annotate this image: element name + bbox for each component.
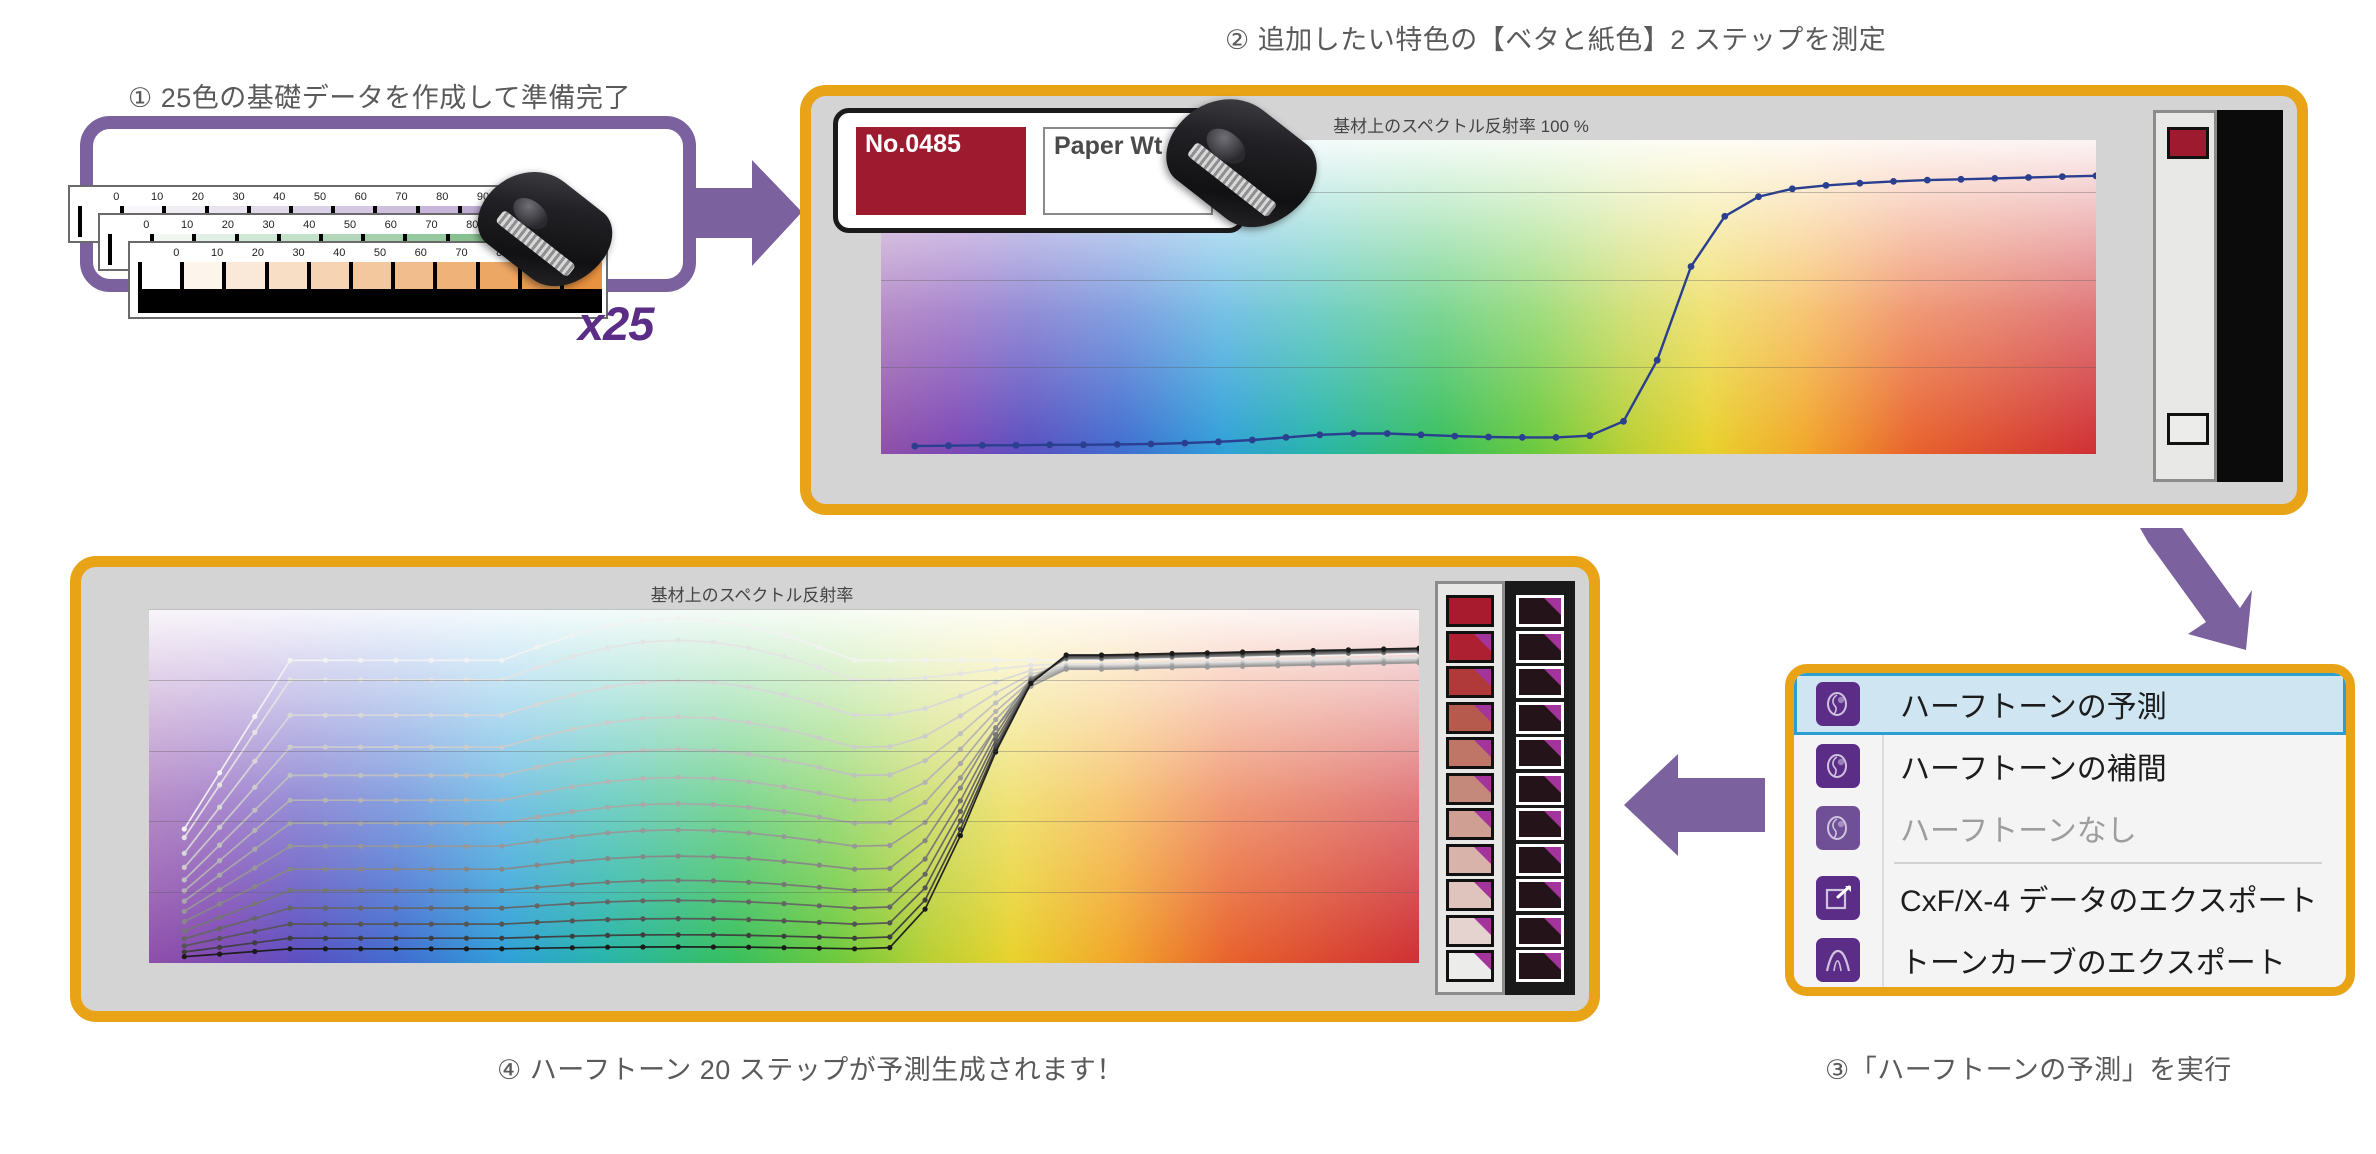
wedge-tick-label: 20 — [177, 189, 218, 206]
wedge-tick-label: 60 — [340, 189, 381, 206]
panel2-swatch-strip — [2153, 110, 2283, 482]
export-icon — [1816, 876, 1860, 920]
y-gridline — [149, 821, 1419, 822]
arrow-step2-to-step3 — [2122, 522, 2252, 652]
panel4-swatch-light[interactable] — [1446, 595, 1494, 627]
wedge-tick-label: 30 — [278, 245, 319, 262]
swatch-corner-marker — [1474, 669, 1491, 686]
menu-item-label: CxF/X-4 データのエクスポート — [1882, 876, 2317, 920]
panel4-swatch-light[interactable] — [1446, 879, 1494, 911]
swatch-corner-marker — [1474, 882, 1491, 899]
swatch-corner-marker — [1474, 953, 1491, 970]
panel4-swatch-light[interactable] — [1446, 950, 1494, 982]
panel4-chart-title: 基材上のスペクトル反射率 — [87, 581, 1417, 606]
swatch-corner-marker — [1544, 918, 1561, 935]
menu-list[interactable]: ハーフトーンの予測ハーフトーンの補間ハーフトーンなしCxF/X-4 データのエク… — [1794, 673, 2346, 991]
swatch-corner-marker — [1474, 740, 1491, 757]
panel4-chart: 基材上のスペクトル反射率 0.00.20.40.60.81.0370400430… — [87, 573, 1417, 1015]
swatch-corner-marker — [1474, 634, 1491, 651]
wedge-tick-label: 40 — [289, 217, 330, 234]
panel4-swatch-dark[interactable] — [1516, 631, 1564, 663]
wedge-patch-color — [269, 262, 307, 289]
step3-caption: ③「ハーフトーンの予測」を実行 — [1825, 1048, 2232, 1087]
solid-color-label: No.0485 — [865, 127, 1026, 161]
swatch-corner-marker — [1544, 882, 1561, 899]
menu-icon-slot — [1794, 806, 1882, 850]
panel2-swatch[interactable] — [2167, 413, 2209, 445]
arrow-step3-to-step4 — [1620, 750, 1770, 860]
step4-caption: ④ ハーフトーン 20 ステップが予測生成されます！ — [497, 1048, 1124, 1087]
predicted-halftone-panel: 基材上のスペクトル反射率 0.00.20.40.60.81.0370400430… — [70, 556, 1600, 1022]
panel4-swatch-light[interactable] — [1446, 915, 1494, 947]
wedge-tick-label: 30 — [218, 189, 259, 206]
wedge-patch-black — [142, 289, 180, 313]
panel4-swatch-dark[interactable] — [1516, 844, 1564, 876]
wedge-patch-black — [437, 289, 475, 313]
brain-icon — [1816, 682, 1860, 726]
wedge-patch-color — [142, 262, 180, 289]
wedge-patch-color — [395, 262, 433, 289]
wedge-tick-label: 70 — [411, 217, 452, 234]
brain-icon — [1816, 806, 1860, 850]
panel2-swatch-dark-column — [2217, 110, 2283, 482]
panel4-swatch-dark[interactable] — [1516, 773, 1564, 805]
swatch-corner-marker — [1544, 953, 1561, 970]
step2-caption: ② 追加したい特色の【ベタと紙色】2 ステップを測定 — [1225, 18, 1886, 57]
swatch-corner-marker — [1544, 847, 1561, 864]
wedge-tick-label: 80 — [422, 189, 463, 206]
wedge-labels-purple: 0102030405060708090100 — [96, 189, 544, 206]
menu-item-3: ハーフトーンなし — [1794, 797, 2346, 859]
wedge-tick-label: 70 — [441, 245, 482, 262]
step1-caption: ① 25色の基礎データを作成して準備完了 — [128, 76, 631, 115]
swatch-corner-marker — [1544, 705, 1561, 722]
y-gridline — [149, 609, 1419, 610]
solid-color-swatch: No.0485 — [856, 127, 1026, 215]
panel4-swatch-dark[interactable] — [1516, 595, 1564, 627]
brain-icon — [1816, 744, 1860, 788]
menu-item-label: ハーフトーンの予測 — [1882, 682, 2167, 726]
wedge-patch-black — [184, 289, 222, 313]
halftone-menu-panel: ハーフトーンの予測ハーフトーンの補間ハーフトーンなしCxF/X-4 データのエク… — [1785, 664, 2355, 996]
wedge-patch-black — [522, 289, 560, 313]
wedge-tick-label: 40 — [259, 189, 300, 206]
swatch-corner-marker — [1544, 776, 1561, 793]
swatch-corner-marker — [1474, 847, 1491, 864]
panel4-swatch-dark[interactable] — [1516, 879, 1564, 911]
wedge-patch-black — [353, 289, 391, 313]
wedge-patch-black — [311, 289, 349, 313]
panel4-reflectance-curves — [149, 609, 1419, 963]
panel2-swatch[interactable] — [2167, 127, 2209, 159]
wedge-tick-label: 0 — [96, 189, 137, 206]
wedge-patch-color — [226, 262, 264, 289]
menu-item-label: ハーフトーンなし — [1882, 806, 2137, 850]
wedge-patch-color — [437, 262, 475, 289]
wedge-tick-label: 50 — [330, 217, 371, 234]
panel4-plot-area: 0.00.20.40.60.81.03704004304604905205505… — [149, 609, 1419, 963]
spectrophotometer-device-2 — [1169, 108, 1314, 216]
swatch-corner-marker — [1474, 918, 1491, 935]
swatch-corner-marker — [1544, 740, 1561, 757]
y-gridline — [881, 367, 2096, 368]
panel4-swatch-dark[interactable] — [1516, 915, 1564, 947]
wedge-tick-label: 20 — [207, 217, 248, 234]
panel4-swatch-light[interactable] — [1446, 773, 1494, 805]
menu-item-1[interactable]: ハーフトーンの予測 — [1794, 673, 2346, 735]
panel4-swatch-dark[interactable] — [1516, 737, 1564, 769]
curve-icon — [1816, 938, 1860, 982]
panel4-swatch-light[interactable] — [1446, 631, 1494, 663]
y-gridline — [881, 280, 2096, 281]
menu-item-5[interactable]: トーンカーブのエクスポート — [1794, 929, 2346, 991]
swatch-corner-marker — [1544, 669, 1561, 686]
menu-icon-slot — [1794, 938, 1882, 982]
wedge-tick-label: 70 — [381, 189, 422, 206]
wedge-patch-black — [480, 289, 518, 313]
wedge-patch — [222, 262, 264, 313]
wedge-patch-black — [226, 289, 264, 313]
wedge-tick-label: 0 — [126, 217, 167, 234]
panel4-swatch-light[interactable] — [1446, 666, 1494, 698]
menu-item-label: ハーフトーンの補間 — [1882, 744, 2167, 788]
y-gridline — [149, 892, 1419, 893]
wedge-tick-label: 10 — [167, 217, 208, 234]
wedge-patch-black — [395, 289, 433, 313]
wedge-patch-color — [311, 262, 349, 289]
wedge-patch — [349, 262, 391, 313]
wedge-tick-label: 10 — [137, 189, 178, 206]
wedge-patch — [391, 262, 433, 313]
swatch-corner-marker — [1474, 811, 1491, 828]
swatch-corner-marker — [1544, 811, 1561, 828]
wedge-tick-label: 0 — [156, 245, 197, 262]
arrow-step1-to-step2 — [690, 150, 805, 280]
spectrophotometer-device-1 — [480, 180, 610, 276]
wedge-patch — [307, 262, 349, 313]
wedge-tick-label: 50 — [360, 245, 401, 262]
panel4-swatch-dark[interactable] — [1516, 702, 1564, 734]
menu-item-4[interactable]: CxF/X-4 データのエクスポート — [1794, 867, 2346, 929]
solid-and-paper-panel: 基材上のスペクトル反射率 100 % 0.00.20.40.6370400430… — [800, 85, 2308, 515]
wedge-tick-label: 40 — [319, 245, 360, 262]
wedge-tick-label: 50 — [300, 189, 341, 206]
y-gridline — [149, 751, 1419, 752]
swatch-corner-marker — [1474, 705, 1491, 722]
wedge-patch-color — [184, 262, 222, 289]
wedge-tick-label: 10 — [197, 245, 238, 262]
panel4-swatch-dark[interactable] — [1516, 950, 1564, 982]
wedge-patch — [180, 262, 222, 313]
wedge-tick-label: 30 — [248, 217, 289, 234]
wedge-patch — [138, 262, 180, 313]
menu-item-label: トーンカーブのエクスポート — [1882, 938, 2286, 982]
wedge-patch-color — [353, 262, 391, 289]
swatch-corner-marker — [1544, 598, 1561, 615]
panel4-swatch-dark[interactable] — [1516, 808, 1564, 840]
wedge-patch — [433, 262, 475, 313]
wedge-tick-label: 60 — [370, 217, 411, 234]
menu-item-2[interactable]: ハーフトーンの補間 — [1794, 735, 2346, 797]
menu-icon-slot — [1794, 682, 1882, 726]
panel4-swatch-light[interactable] — [1446, 808, 1494, 840]
menu-separator — [1894, 862, 2322, 864]
panel4-swatch-light[interactable] — [1446, 844, 1494, 876]
menu-icon-slot — [1794, 876, 1882, 920]
panel4-swatch-light[interactable] — [1446, 737, 1494, 769]
panel2-swatch-light-column — [2153, 110, 2217, 482]
y-gridline — [149, 680, 1419, 681]
wedge-tick-label: 20 — [237, 245, 278, 262]
panel4-swatch-strip — [1435, 581, 1575, 995]
swatch-corner-marker — [1544, 634, 1561, 651]
panel4-swatch-dark[interactable] — [1516, 666, 1564, 698]
wedge-patch — [265, 262, 307, 313]
menu-icon-slot — [1794, 744, 1882, 788]
multiplier-label: x25 — [578, 296, 653, 351]
wedge-patch-black — [269, 289, 307, 313]
panel4-swatch-light[interactable] — [1446, 702, 1494, 734]
wedge-tick-label: 60 — [400, 245, 441, 262]
swatch-corner-marker — [1474, 776, 1491, 793]
